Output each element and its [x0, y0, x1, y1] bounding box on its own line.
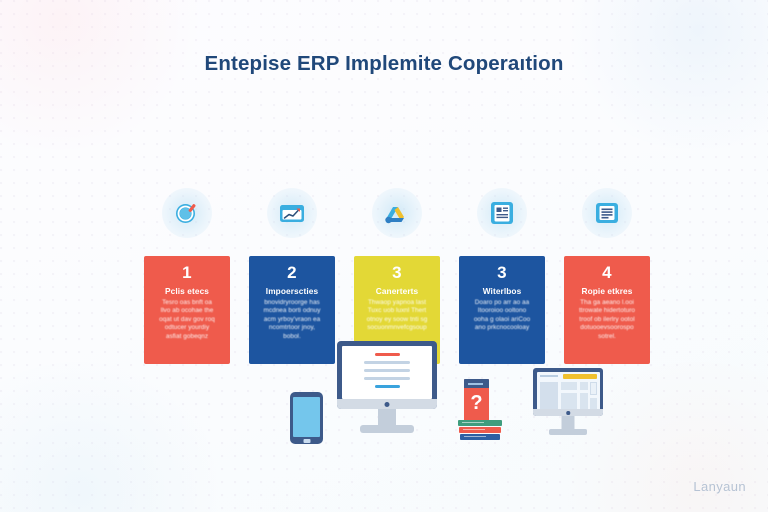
icon-slot-1 — [144, 185, 230, 241]
step-number: 3 — [361, 263, 433, 283]
page-title: Entepise ERP Implemite Coperaıtion — [0, 52, 768, 76]
icon-slot-4 — [459, 185, 545, 241]
step-card-4[interactable]: 3 Witerlbos Doaro po arr ao aaItooroioo … — [459, 256, 545, 364]
step-body: Thwaop yapnoa lastTuxc uob luxnl Thertot… — [361, 299, 433, 333]
screen-block — [561, 393, 577, 410]
screen-line — [364, 369, 410, 372]
step-heading: Ropie etkres — [571, 286, 643, 296]
step-card-5[interactable]: 4 Ropie etkres Tha ga aeano l.ooittrowat… — [564, 256, 650, 364]
smartphone-icon — [290, 392, 323, 444]
step-number: 2 — [256, 263, 328, 283]
icon-slot-5 — [564, 185, 650, 241]
monitor-base — [360, 425, 414, 433]
step-number: 3 — [466, 263, 538, 283]
monitor-neck — [378, 409, 396, 425]
icon-halo-5 — [582, 188, 632, 238]
icon-row — [144, 185, 650, 241]
question-mark-glyph: ? — [464, 390, 489, 416]
icon-halo-1 — [162, 188, 212, 238]
screen-block — [561, 382, 577, 390]
step-heading: Impoerscties — [256, 286, 328, 296]
book-blue — [460, 434, 500, 440]
screen-block — [590, 382, 597, 395]
watermark: Lanyaun — [693, 479, 746, 494]
step-card-2[interactable]: 2 Impoerscties bnovidryroorge hasmcdnea … — [249, 256, 335, 364]
screen-topbar — [540, 375, 558, 377]
icon-slot-3 — [354, 185, 440, 241]
question-card-header — [464, 379, 489, 388]
phone-home-button — [303, 439, 310, 443]
step-heading: Witerlbos — [466, 286, 538, 296]
step-heading: Pclis etecs — [151, 286, 223, 296]
document-icon — [487, 198, 517, 228]
step-card-1[interactable]: 1 Pclis etecs Tesro oas bnft oallvo ab o… — [144, 256, 230, 364]
background-wash-bottom-left — [0, 362, 230, 512]
screen-header-bar — [563, 374, 597, 379]
screen-line — [364, 361, 410, 364]
step-body: Doaro po arr ao aaItooroioo ooltonoooha … — [466, 299, 538, 333]
desktop-monitor-icon — [337, 341, 437, 439]
screen-block — [580, 382, 588, 390]
monitor-neck — [562, 416, 575, 429]
monitor-base — [549, 429, 587, 435]
step-heading: Canerterts — [361, 286, 433, 296]
step-body: Tesro oas bnft oallvo ab ocohae theoqat … — [151, 299, 223, 341]
dashboard-monitor-icon — [533, 368, 603, 440]
screen-line — [364, 377, 410, 380]
book-green — [458, 420, 502, 426]
icon-halo-3 — [372, 188, 422, 238]
question-card: ? — [464, 379, 489, 421]
monitor-power-dot — [566, 411, 570, 415]
monitor-power-dot — [385, 402, 390, 407]
screen-line-accent — [375, 353, 400, 356]
step-body: bnovidryroorge hasmcdnea borti odnuyacm … — [256, 299, 328, 341]
screen-block — [580, 393, 588, 410]
icon-halo-2 — [267, 188, 317, 238]
screen-line-highlight — [375, 385, 400, 388]
step-body: Tha ga aeano l.ooittrowate hidertoturotr… — [571, 299, 643, 341]
screen-sidebar-block — [540, 382, 558, 410]
book-red — [459, 427, 501, 433]
screen-block — [590, 398, 597, 410]
step-number: 1 — [151, 263, 223, 283]
phone-screen — [293, 397, 320, 437]
icon-slot-2 — [249, 185, 335, 241]
growth-chart-icon — [277, 198, 307, 228]
books-stack-question-icon: ? — [458, 379, 502, 441]
text-lines-icon — [592, 198, 622, 228]
cloud-icon — [382, 198, 412, 228]
icon-halo-4 — [477, 188, 527, 238]
magnifier-icon — [172, 198, 202, 228]
step-number: 4 — [571, 263, 643, 283]
monitor-screen — [537, 372, 600, 413]
monitor-screen — [342, 346, 432, 399]
infographic-canvas: Entepise ERP Implemite Coperaıtion — [0, 0, 768, 512]
